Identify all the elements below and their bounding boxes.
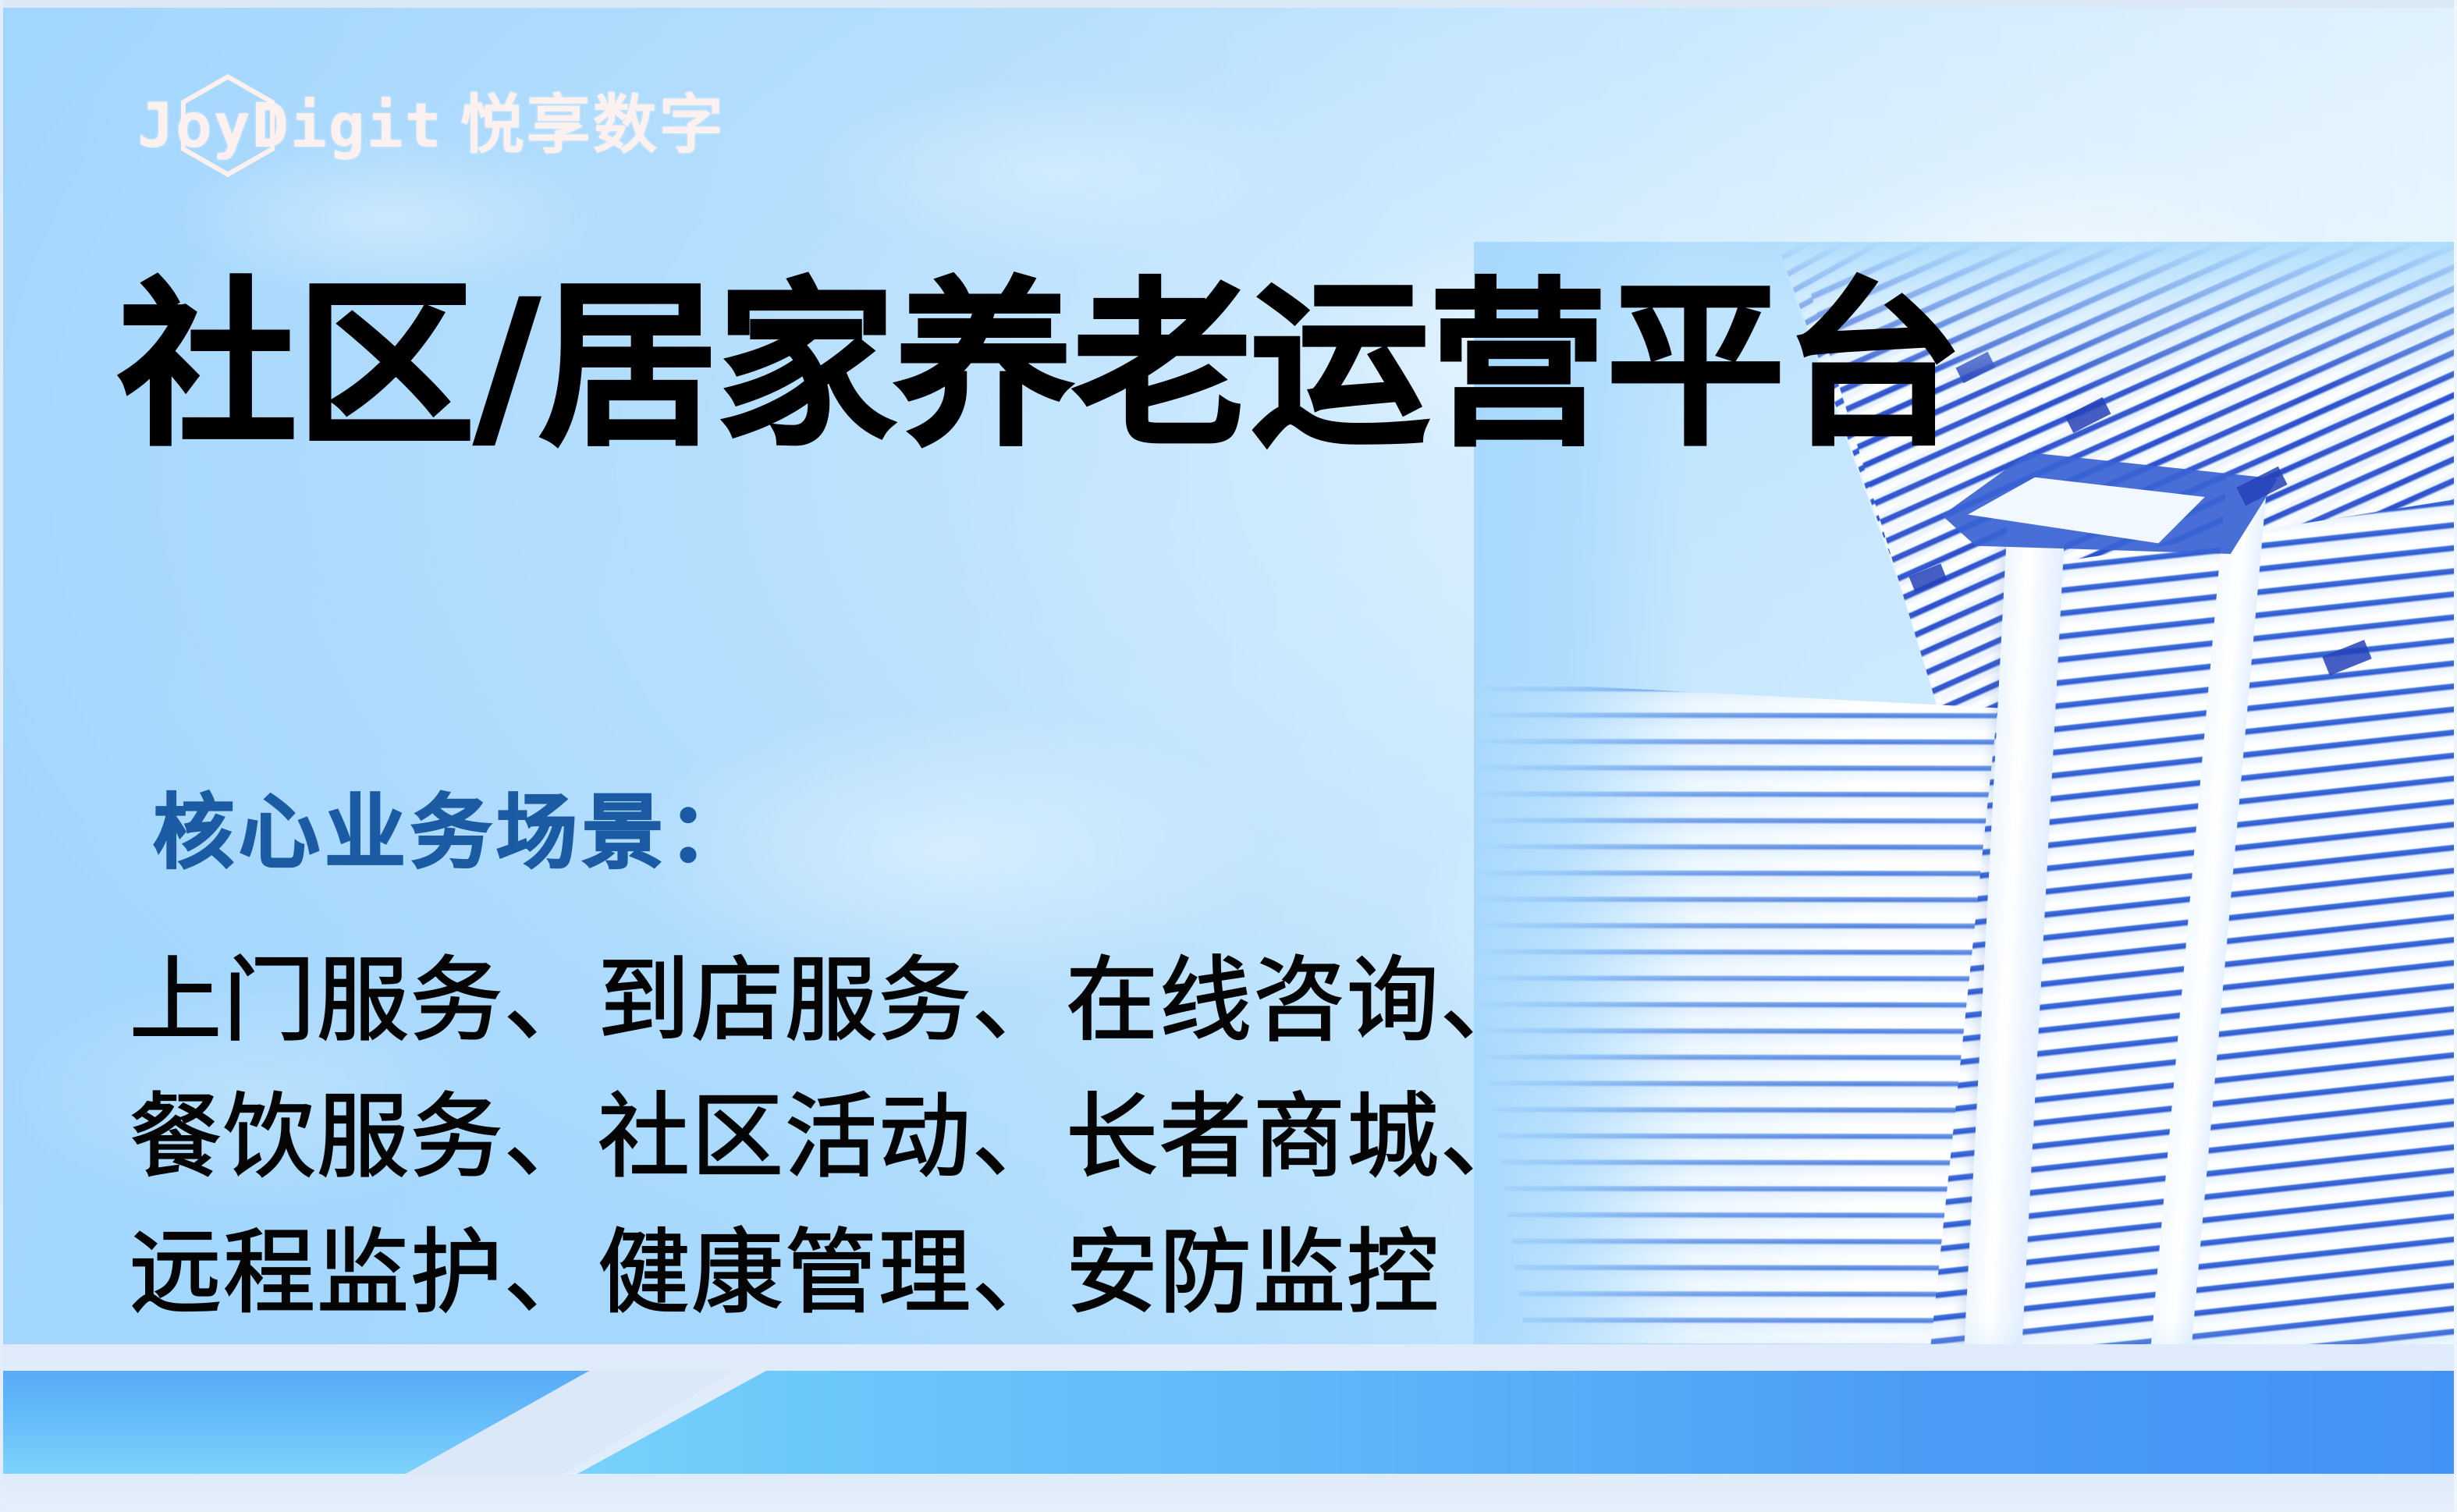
brand-logo: JoyDigit 悦享数字 [137,76,726,175]
slide-canvas: JoyDigit 悦享数字 社区/居家养老运营平台 核心业务场景： 上门服务、到… [0,0,2457,1512]
slide-frame-right [2454,0,2457,1512]
slide-background: JoyDigit 悦享数字 社区/居家养老运营平台 核心业务场景： 上门服务、到… [0,8,2457,1512]
scenario-line: 远程监护、健康管理、安防监控 [130,1205,1534,1341]
scenario-line: 上门服务、到店服务、在线咨询、 [130,932,1534,1069]
slide-frame-left [0,0,3,1512]
scenario-line: 餐饮服务、社区活动、长者商城、 [130,1069,1534,1205]
page-title: 社区/居家养老运营平台 [119,265,1962,468]
logo-latin-text: JoyDigit [137,96,443,157]
business-scenario-list: 上门服务、到店服务、在线咨询、 餐饮服务、社区活动、长者商城、 远程监护、健康管… [130,932,1534,1341]
slide-frame-top [0,0,2457,8]
ribbon-main-band [577,1371,2457,1474]
logo-cjk-text: 悦享数字 [460,94,726,158]
bottom-ribbon [0,1344,2457,1512]
logo-wordmark: JoyDigit 悦享数字 [137,94,726,158]
ribbon-base-strip [0,1474,2457,1512]
section-heading: 核心业务场景： [153,788,754,877]
